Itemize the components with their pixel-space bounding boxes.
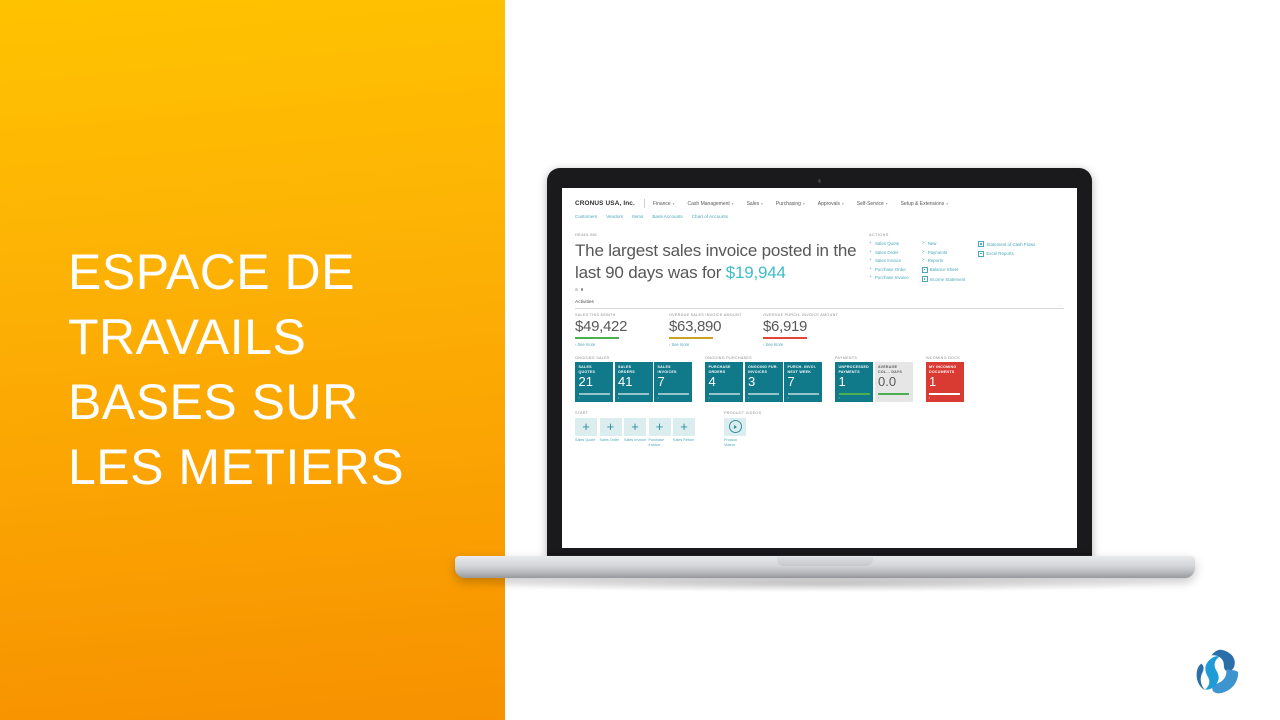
tile-group-ongoing-purchases: ONGOING PURCHASES PURCHASE ORDERS 4 › ON… (705, 356, 822, 403)
actions-column-create: +Sales Quote +Sales Order +Sales Invoice… (869, 241, 909, 286)
chevron-right-icon: › (788, 396, 789, 400)
tile-caption: UNPROCESSED PAYMENTS (839, 365, 870, 374)
actions-section: ACTIONS +Sales Quote +Sales Order +Sales… (865, 232, 1077, 291)
start-caption: START (575, 411, 695, 415)
headline-amount: $19,944 (726, 263, 786, 282)
start-tile-sales-order[interactable]: + (600, 418, 622, 436)
action-purchase-order[interactable]: +Purchase Order (869, 267, 909, 272)
plus-icon: + (680, 420, 688, 433)
chevron-down-icon: ▾ (842, 202, 844, 206)
tile-value: 7 (788, 375, 795, 389)
tile-group-caption: ONGOING SALES (575, 356, 692, 360)
tile-value: 3 (748, 375, 755, 389)
plus-icon: + (607, 420, 615, 433)
cue-caption: SALES THIS MONTH (575, 313, 669, 317)
plus-icon: + (631, 420, 639, 433)
play-icon (729, 420, 742, 433)
start-tile-sales-quote[interactable]: + (575, 418, 597, 436)
tile-group-caption: PAYMENTS (835, 356, 913, 360)
start-tile-sales-invoice[interactable]: + (624, 418, 646, 436)
tile-bar (788, 393, 819, 394)
chevron-down-icon: ▾ (761, 202, 763, 206)
actions-caption: ACTIONS (869, 232, 1077, 237)
tile-bar (579, 393, 610, 394)
start-section: START + + + + + Sales Quote Sales Order … (575, 411, 695, 447)
activities-divider: ··· (575, 308, 1064, 309)
report-icon (978, 251, 984, 257)
tile-caption: SALES INVOICES (658, 365, 689, 374)
cue-see-more-link[interactable]: › See more (669, 342, 763, 347)
tile-value: 0.0 (878, 375, 896, 389)
top-navigation: CRONUS USA, Inc. Finance▾ Cash Managemen… (562, 188, 1077, 208)
action-new[interactable]: >New (922, 241, 966, 246)
tile-caption: PURCHASE ORDERS (709, 365, 740, 374)
activities-cues: SALES THIS MONTH $49,422 › See more OVER… (575, 313, 1064, 347)
start-label-sales-return[interactable]: Sales Return (673, 438, 695, 447)
laptop-shadow (475, 576, 1175, 592)
chevron-down-icon: ▾ (946, 202, 948, 206)
nav-item-finance[interactable]: Finance▾ (653, 201, 675, 207)
cue-caption: OVERDUE PURCH. INVOICE AMOUNT (763, 313, 857, 317)
tile-list: PURCHASE ORDERS 4 › ONGOING PUR. INVOICE… (705, 362, 822, 402)
nav-item-self-service[interactable]: Self-Service▾ (857, 201, 888, 207)
chevron-right-icon: › (579, 396, 580, 400)
activities-section: Activities ··· SALES THIS MONTH $49,422 … (562, 291, 1077, 347)
tile-list: SALES QUOTES 21 › SALES ORDERS 41 › (575, 362, 692, 402)
product-videos-label[interactable]: Product Videos (724, 438, 746, 447)
plus-icon: + (656, 420, 664, 433)
title-panel: ESPACE DE TRAVAILS BASES SUR LES METIERS (0, 0, 505, 720)
product-videos-section: PRODUCT VIDEOS Product Videos (724, 411, 761, 447)
action-sales-order[interactable]: +Sales Order (869, 250, 909, 255)
action-statement-of-cash-flows[interactable]: Statement of Cash Flows (978, 241, 1035, 247)
product-videos-caption: PRODUCT VIDEOS (724, 411, 761, 415)
tile-group-caption: INCOMING DOCS (926, 356, 964, 360)
tile-purch-invoices-next-week[interactable]: PURCH. INVOI. NEXT WEEK 7 › (784, 362, 822, 402)
tile-group-ongoing-sales: ONGOING SALES SALES QUOTES 21 › SALES OR… (575, 356, 692, 403)
nav-divider (644, 199, 645, 208)
tile-purchase-orders[interactable]: PURCHASE ORDERS 4 › (705, 362, 743, 402)
tile-value: 7 (658, 375, 665, 389)
subnav-item-customers[interactable]: Customers (575, 214, 597, 219)
company-name: CRONUS USA, Inc. (575, 200, 635, 207)
plus-icon: + (582, 420, 590, 433)
tile-bar (618, 393, 649, 394)
headline-actions-row: HEADLINE The largest sales invoice poste… (562, 219, 1077, 291)
tile-bar (929, 393, 960, 395)
tile-caption: SALES QUOTES (579, 365, 610, 374)
report-icon (922, 276, 928, 282)
tile-bar (839, 393, 870, 394)
activities-title: Activities (575, 300, 1064, 305)
start-label-sales-order[interactable]: Sales Order (600, 438, 622, 447)
nav-item-sales[interactable]: Sales▾ (747, 201, 763, 207)
tile-group-payments: PAYMENTS UNPROCESSED PAYMENTS 1 › AVERAG… (835, 356, 913, 403)
start-tiles: + + + + + (575, 418, 695, 436)
start-label-sales-invoice[interactable]: Sales Invoice (624, 438, 646, 447)
headline-text: The largest sales invoice posted in the … (575, 240, 865, 284)
product-videos-tiles (724, 418, 761, 436)
tile-sales-orders[interactable]: SALES ORDERS 41 › (615, 362, 653, 402)
subnav-item-items[interactable]: Items (632, 214, 643, 219)
headline-section: HEADLINE The largest sales invoice poste… (575, 232, 865, 291)
tile-group-caption: ONGOING PURCHASES (705, 356, 822, 360)
subnav-item-bank-accounts[interactable]: Bank Accounts (652, 214, 682, 219)
chevron-right-icon: › (709, 396, 710, 400)
nav-item-approvals[interactable]: Approvals▾ (818, 201, 844, 207)
tile-list: UNPROCESSED PAYMENTS 1 › AVERAGE COL... … (835, 362, 913, 402)
chevron-right-icon: › (878, 396, 879, 400)
carousel-dot[interactable] (575, 288, 578, 291)
product-videos-labels: Product Videos (724, 438, 761, 447)
tile-groups-row: ONGOING SALES SALES QUOTES 21 › SALES OR… (562, 347, 1077, 403)
action-sales-invoice[interactable]: +Sales Invoice (869, 258, 909, 263)
chevron-down-icon: ▾ (803, 202, 805, 206)
laptop-base-notch (777, 557, 873, 566)
cue-value: $63,890 (669, 318, 763, 336)
start-tile-purchase-invoice[interactable]: + (649, 418, 671, 436)
cue-see-more-link[interactable]: › See more (763, 342, 857, 347)
action-income-statement[interactable]: Income Statement (922, 276, 966, 282)
cue-bar (575, 337, 619, 339)
report-icon (922, 267, 928, 273)
start-videos-row: START + + + + + Sales Quote Sales Order … (562, 402, 1077, 447)
chevron-right-icon: › (618, 396, 619, 400)
nav-item-purchasing[interactable]: Purchasing▾ (776, 201, 805, 207)
tile-caption: PURCH. INVOI. NEXT WEEK (788, 365, 819, 374)
headline-caption: HEADLINE (575, 232, 865, 237)
chevron-right-icon: › (839, 396, 840, 400)
cue-see-more-link[interactable]: › See more (575, 342, 669, 347)
action-reports[interactable]: >Reports (922, 258, 966, 263)
tile-my-incoming-documents[interactable]: MY INCOMING DOCUMENTS 1 › (926, 362, 964, 402)
tile-value: 4 (709, 375, 716, 389)
tile-ongoing-purchase-invoices[interactable]: ONGOING PUR. INVOICES 3 › (745, 362, 783, 402)
product-videos-tile[interactable] (724, 418, 746, 436)
tile-sales-invoices[interactable]: SALES INVOICES 7 › (654, 362, 692, 402)
tile-caption: AVERAGE COL... DAYS (878, 365, 909, 374)
laptop-lid: CRONUS USA, Inc. Finance▾ Cash Managemen… (547, 168, 1092, 558)
action-balance-sheet[interactable]: Balance Sheet (922, 267, 966, 273)
chevron-down-icon: ▾ (732, 202, 734, 206)
action-sales-quote[interactable]: +Sales Quote (869, 241, 909, 246)
chevron-down-icon: ▾ (673, 202, 675, 206)
nav-item-cash-management[interactable]: Cash Management▾ (688, 201, 734, 207)
action-excel-reports[interactable]: Excel Reports (978, 251, 1035, 257)
subnav-item-vendors[interactable]: Vendors (606, 214, 623, 219)
start-label-sales-quote[interactable]: Sales Quote (575, 438, 597, 447)
actions-column-reports: Statement of Cash Flows Excel Reports (978, 241, 1035, 286)
chevron-right-icon: › (658, 396, 659, 400)
brand-logo (1194, 648, 1240, 696)
report-icon (978, 241, 984, 247)
subnav-item-chart-of-accounts[interactable]: Chart of Accounts (692, 214, 728, 219)
slide-title: ESPACE DE TRAVAILS BASES SUR LES METIERS (68, 240, 488, 500)
tile-caption: MY INCOMING DOCUMENTS (929, 365, 960, 374)
business-central-app: CRONUS USA, Inc. Finance▾ Cash Managemen… (562, 188, 1077, 548)
headline-body: The largest sales invoice posted in the … (575, 241, 856, 282)
cue-overdue-sales-invoice-amount[interactable]: OVERDUE SALES INVOICE AMOUNT $63,890 › S… (669, 313, 763, 347)
cue-caption: OVERDUE SALES INVOICE AMOUNT (669, 313, 763, 317)
start-tile-sales-return[interactable]: + (673, 418, 695, 436)
chevron-right-icon: › (929, 396, 930, 400)
laptop-screen: CRONUS USA, Inc. Finance▾ Cash Managemen… (562, 188, 1077, 548)
tile-value: 21 (579, 375, 593, 389)
tile-list: MY INCOMING DOCUMENTS 1 › (926, 362, 964, 402)
cue-bar (669, 337, 713, 339)
webcam-icon (818, 179, 822, 183)
nav-item-setup-extensions[interactable]: Setup & Extensions▾ (901, 201, 948, 207)
sub-navigation: Customers Vendors Items Bank Accounts Ch… (562, 208, 1077, 219)
tile-sales-quotes[interactable]: SALES QUOTES 21 › (575, 362, 613, 402)
start-label-purchase-invoice[interactable]: Purchase Invoice (649, 438, 671, 447)
tile-average-collection-days[interactable]: AVERAGE COL... DAYS 0.0 › (875, 362, 913, 402)
chevron-down-icon: ▾ (886, 202, 888, 206)
tile-unprocessed-payments[interactable]: UNPROCESSED PAYMENTS 1 › (835, 362, 873, 402)
tile-caption: ONGOING PUR. INVOICES (748, 365, 779, 374)
cue-overdue-purch-invoice-amount[interactable]: OVERDUE PURCH. INVOICE AMOUNT $6,919 › S… (763, 313, 857, 347)
activities-overflow-icon[interactable]: ··· (1058, 303, 1064, 308)
laptop-mockup: CRONUS USA, Inc. Finance▾ Cash Managemen… (455, 168, 1195, 588)
tile-group-incoming-docs: INCOMING DOCS MY INCOMING DOCUMENTS 1 › (926, 356, 964, 403)
actions-grid: +Sales Quote +Sales Order +Sales Invoice… (869, 241, 1077, 286)
tile-bar (709, 393, 740, 394)
tile-bar (658, 393, 689, 394)
tile-bar (748, 393, 779, 394)
cue-value: $6,919 (763, 318, 857, 336)
action-payments[interactable]: >Payments (922, 250, 966, 255)
tile-caption: SALES ORDERS (618, 365, 649, 374)
carousel-dot-active[interactable] (581, 288, 584, 291)
start-labels: Sales Quote Sales Order Sales Invoice Pu… (575, 438, 695, 447)
headline-carousel-dots[interactable] (575, 288, 865, 291)
cue-value: $49,422 (575, 318, 669, 336)
action-purchase-invoice[interactable]: +Purchase Invoice (869, 275, 909, 280)
tile-value: 1 (839, 375, 846, 389)
tile-value: 41 (618, 375, 632, 389)
actions-column-navigate: >New >Payments >Reports Balance Sheet In… (922, 241, 966, 286)
chevron-right-icon: › (748, 396, 749, 400)
cue-bar (763, 337, 807, 339)
tile-bar (878, 393, 909, 394)
tile-value: 1 (929, 375, 936, 389)
cue-sales-this-month[interactable]: SALES THIS MONTH $49,422 › See more (575, 313, 669, 347)
